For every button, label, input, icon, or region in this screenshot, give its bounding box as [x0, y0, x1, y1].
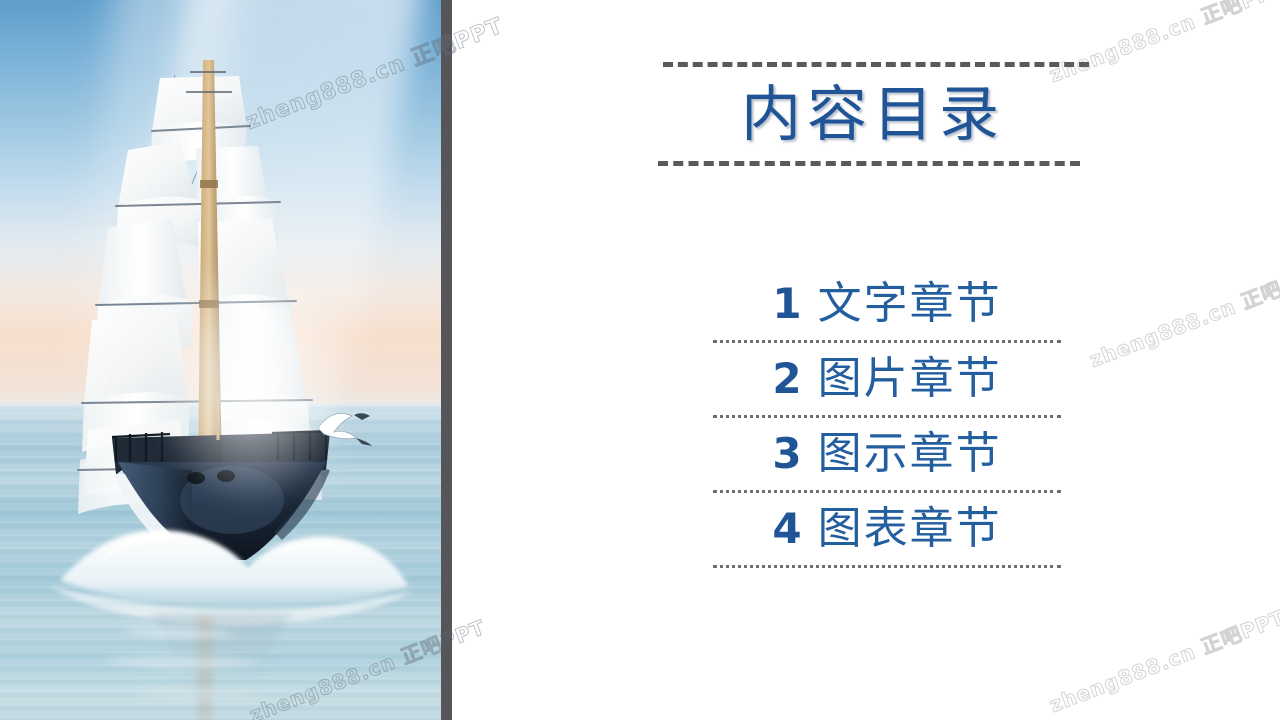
sailing-ship-illustration: [0, 0, 441, 720]
toc-label: 图表章节: [818, 507, 1002, 551]
toc-number: 4: [772, 508, 801, 550]
slide-root: 内容目录 1 文字章节 2 图片章节 3 图示章节 4 图表章节: [0, 0, 1280, 720]
title-block: 内容目录: [658, 62, 1088, 166]
table-of-contents: 1 文字章节 2 图片章节 3 图示章节 4 图表章节: [712, 268, 1062, 568]
toc-number: 1: [772, 283, 801, 325]
toc-number: 3: [772, 433, 801, 475]
vertical-divider: [441, 0, 452, 720]
title-rule-bottom: [658, 161, 1080, 166]
toc-item-2[interactable]: 2 图片章节: [712, 343, 1062, 415]
content-panel: 内容目录 1 文字章节 2 图片章节 3 图示章节 4 图表章节: [452, 0, 1280, 720]
toc-item-1[interactable]: 1 文字章节: [712, 268, 1062, 340]
toc-label: 图示章节: [818, 432, 1002, 476]
toc-label: 图片章节: [818, 357, 1002, 401]
toc-label: 文字章节: [818, 282, 1002, 326]
page-title: 内容目录: [658, 67, 1088, 161]
toc-separator-4: [713, 565, 1061, 568]
toc-number: 2: [772, 358, 801, 400]
toc-item-3[interactable]: 3 图示章节: [712, 418, 1062, 490]
toc-item-4[interactable]: 4 图表章节: [712, 493, 1062, 565]
hero-photo: [0, 0, 441, 720]
